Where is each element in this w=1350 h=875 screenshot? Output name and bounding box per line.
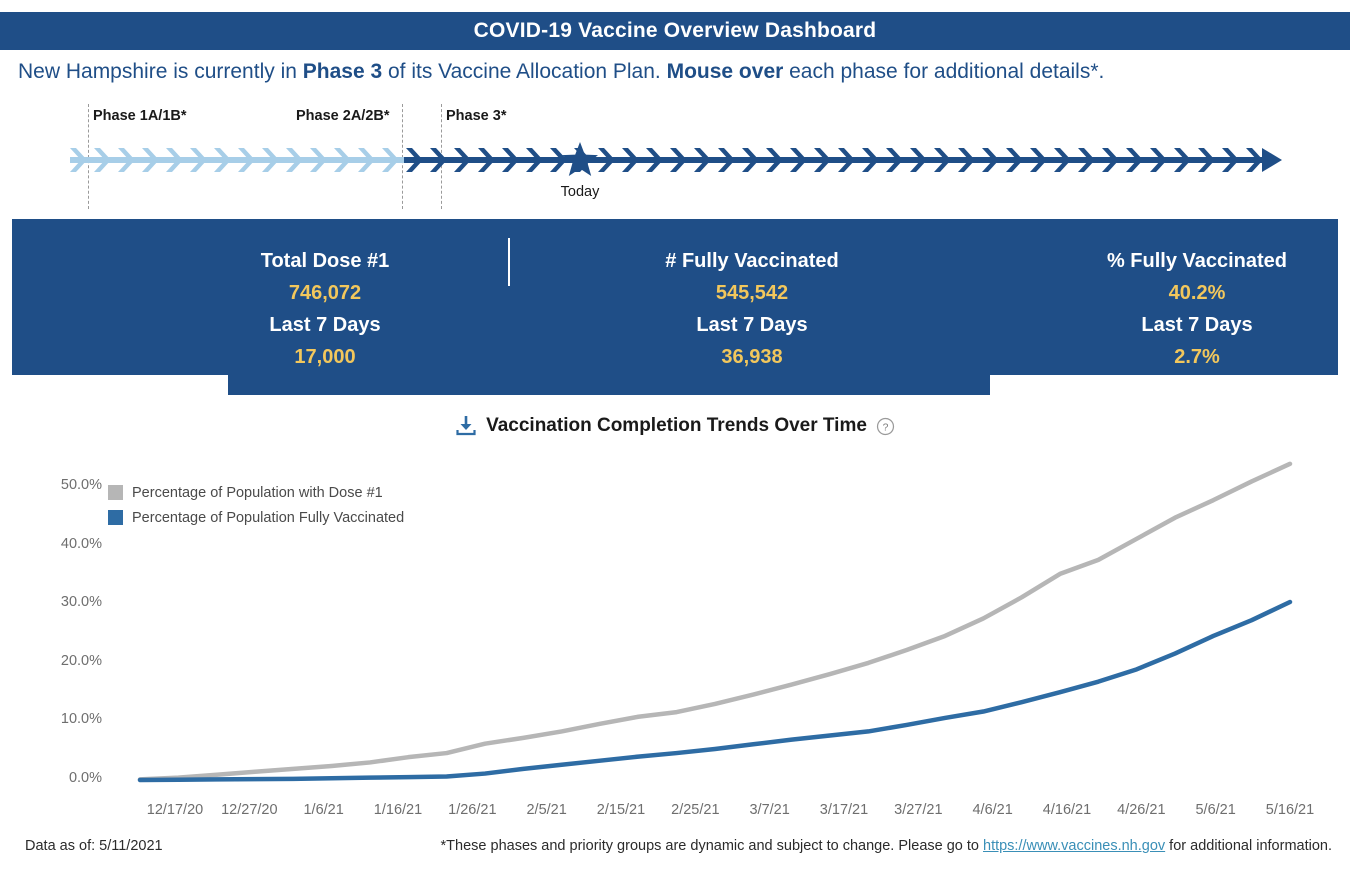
stat-label: % Fully Vaccinated: [997, 245, 1350, 277]
x-axis-tick: 3/7/21: [749, 802, 789, 818]
stat-value: 746,072: [125, 277, 525, 309]
x-axis-tick: 2/15/21: [597, 802, 645, 818]
phase-label-2a2b[interactable]: Phase 2A/2B*: [296, 108, 390, 124]
x-axis-tick: 2/25/21: [671, 802, 719, 818]
chart-header: Vaccination Completion Trends Over Time …: [0, 408, 1350, 444]
x-axis-tick: 5/6/21: [1195, 802, 1235, 818]
trend-chart: Percentage of Population with Dose #1 Pe…: [0, 450, 1350, 840]
today-star-icon: [560, 140, 600, 180]
phase-label-3[interactable]: Phase 3*: [446, 108, 506, 124]
x-axis-tick: 4/6/21: [972, 802, 1012, 818]
page-title: COVID-19 Vaccine Overview Dashboard: [474, 19, 877, 43]
stat-period-value: 36,938: [552, 341, 952, 373]
download-icon[interactable]: [455, 415, 477, 437]
stat-pct-fully-vaccinated: % Fully Vaccinated 40.2% Last 7 Days 2.7…: [997, 245, 1350, 373]
stat-value: 545,542: [552, 277, 952, 309]
stat-period-label: Last 7 Days: [552, 309, 952, 341]
chart-title: Vaccination Completion Trends Over Time: [486, 415, 867, 437]
subtitle-post: each phase for additional details*.: [783, 60, 1104, 83]
band-notch-right: [990, 375, 1350, 395]
help-circle-icon[interactable]: ?: [876, 417, 895, 436]
x-axis-tick: 1/26/21: [448, 802, 496, 818]
x-axis-tick: 1/6/21: [303, 802, 343, 818]
stat-period-value: 2.7%: [997, 341, 1350, 373]
subtitle-pre: New Hampshire is currently in: [18, 60, 303, 83]
stat-num-fully-vaccinated: # Fully Vaccinated 545,542 Last 7 Days 3…: [552, 245, 952, 373]
x-axis-tick: 3/27/21: [894, 802, 942, 818]
stat-period-label: Last 7 Days: [125, 309, 525, 341]
phase-arrow-band[interactable]: [70, 146, 1282, 174]
phase-status-subtitle: New Hampshire is currently in Phase 3 of…: [18, 60, 1332, 84]
data-as-of-text: Data as of: 5/11/2021: [25, 838, 163, 854]
footer-note: *These phases and priority groups are dy…: [441, 838, 1332, 854]
stat-label: Total Dose #1: [125, 245, 525, 277]
stat-label: # Fully Vaccinated: [552, 245, 952, 277]
band-notch-left: [12, 375, 228, 395]
today-label: Today: [540, 184, 620, 200]
subtitle-mouseover: Mouse over: [667, 60, 784, 83]
chart-line-dose1: [140, 464, 1290, 780]
stat-period-value: 17,000: [125, 341, 525, 373]
stat-period-label: Last 7 Days: [997, 309, 1350, 341]
x-axis-tick: 12/27/20: [221, 802, 277, 818]
x-axis: 12/17/2012/27/201/6/211/16/211/26/212/5/…: [0, 802, 1350, 828]
subtitle-current-phase: Phase 3: [303, 60, 382, 83]
stat-total-dose-1: Total Dose #1 746,072 Last 7 Days 17,000: [125, 245, 525, 373]
subtitle-mid: of its Vaccine Allocation Plan.: [382, 60, 666, 83]
x-axis-tick: 2/5/21: [526, 802, 566, 818]
stat-value: 40.2%: [997, 277, 1350, 309]
x-axis-tick: 3/17/21: [820, 802, 868, 818]
phase-label-1a1b[interactable]: Phase 1A/1B*: [93, 108, 187, 124]
x-axis-tick: 4/16/21: [1043, 802, 1091, 818]
dashboard-title-bar: COVID-19 Vaccine Overview Dashboard: [0, 12, 1350, 50]
footer-note-pre: *These phases and priority groups are dy…: [441, 838, 983, 854]
chart-line-fully-vaccinated: [140, 602, 1290, 780]
x-axis-tick: 5/16/21: [1266, 802, 1314, 818]
x-axis-tick: 12/17/20: [147, 802, 203, 818]
vaccines-nh-gov-link[interactable]: https://www.vaccines.nh.gov: [983, 838, 1165, 854]
svg-text:?: ?: [883, 422, 889, 433]
chart-plot: [0, 450, 1350, 840]
footer-note-post: for additional information.: [1165, 838, 1332, 854]
x-axis-tick: 4/26/21: [1117, 802, 1165, 818]
phase-timeline: Phase 1A/1B* Phase 2A/2B* Phase 3* Today: [0, 104, 1350, 209]
x-axis-tick: 1/16/21: [374, 802, 422, 818]
